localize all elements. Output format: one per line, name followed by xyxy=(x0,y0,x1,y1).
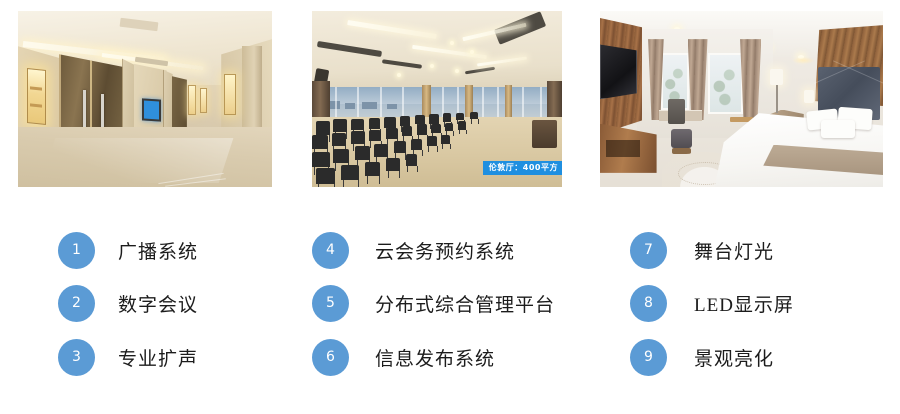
door-handle xyxy=(83,90,86,129)
elevator-lobby-scene xyxy=(18,11,272,187)
feature-number-badge: 6 xyxy=(312,339,349,376)
feature-item-1[interactable]: 1 广播系统 xyxy=(18,231,198,269)
chair xyxy=(406,154,418,166)
lobby-floor xyxy=(18,127,272,187)
chair xyxy=(351,131,365,144)
feature-number-badge: 8 xyxy=(630,285,667,322)
chair xyxy=(333,119,347,132)
chair xyxy=(384,117,396,128)
feature-column-3: 7 舞台灯光 8 LED显示屏 9 景观亮化 xyxy=(600,196,890,414)
chair xyxy=(394,141,406,153)
ottoman-stool xyxy=(671,129,692,148)
feature-item-3[interactable]: 3 专业扩声 xyxy=(18,338,198,376)
guest-room-photo xyxy=(600,11,883,187)
chair-rows xyxy=(312,103,507,187)
chair xyxy=(369,118,381,129)
pillow xyxy=(821,120,855,138)
wall-sconce-light xyxy=(200,88,207,113)
wall-mounted-tv xyxy=(600,44,637,99)
feature-label: 信息发布系统 xyxy=(375,344,495,371)
elevator-lobby-photo xyxy=(18,11,272,187)
chair xyxy=(316,121,330,135)
chair xyxy=(443,113,452,121)
chair xyxy=(312,135,328,149)
chair xyxy=(458,121,466,129)
downlight-icon xyxy=(455,69,459,73)
chair xyxy=(445,123,454,131)
feature-item-8[interactable]: 8 LED显示屏 xyxy=(600,284,794,322)
downlight-icon xyxy=(430,64,434,68)
window-mullion xyxy=(540,87,542,119)
hall-caption-badge: 伦敦厅：400平方 xyxy=(483,161,562,175)
feature-number-badge: 2 xyxy=(58,285,95,322)
feature-list: 1 广播系统 2 数字会议 3 专业扩声 4 云会务预约系统 5 分布式综合管理… xyxy=(0,196,900,414)
chair xyxy=(456,113,464,121)
feature-number-badge: 7 xyxy=(630,232,667,269)
chair xyxy=(429,114,439,123)
side-bench xyxy=(532,120,557,148)
window-mullion xyxy=(522,87,524,119)
chair xyxy=(341,165,359,180)
bedside-wall-lamp xyxy=(804,90,814,102)
floor-lamp xyxy=(770,69,783,85)
feature-number-badge: 4 xyxy=(312,232,349,269)
wall-sconce-light xyxy=(224,74,236,115)
feature-number-badge: 9 xyxy=(630,339,667,376)
chair xyxy=(417,124,427,134)
chair xyxy=(411,139,422,150)
conference-hall-photo: 伦敦厅：400平方 xyxy=(312,11,562,187)
feature-label: 专业扩声 xyxy=(118,344,198,371)
photo-strip: 伦敦厅：400平方 xyxy=(0,0,900,196)
guest-room-scene xyxy=(600,11,883,187)
chair xyxy=(355,146,370,160)
feature-label: 广播系统 xyxy=(118,237,198,264)
feature-item-9[interactable]: 9 景观亮化 xyxy=(600,338,774,376)
downlight-icon xyxy=(397,73,401,77)
wall-sconce-light xyxy=(27,68,46,125)
chair xyxy=(400,116,411,126)
conference-hall-scene: 伦敦厅：400平方 xyxy=(312,11,562,187)
cove-glow xyxy=(792,57,815,64)
chair xyxy=(374,144,388,157)
chair xyxy=(332,133,347,147)
desk-chair xyxy=(668,99,685,124)
chair xyxy=(431,124,441,133)
feature-number-badge: 1 xyxy=(58,232,95,269)
feature-item-2[interactable]: 2 数字会议 xyxy=(18,284,198,322)
feature-number-badge: 3 xyxy=(58,339,95,376)
chair xyxy=(351,119,364,131)
chair xyxy=(369,130,382,142)
downlight-icon xyxy=(470,50,474,54)
feature-item-6[interactable]: 6 信息发布系统 xyxy=(312,338,495,376)
chair xyxy=(365,162,381,176)
feature-column-1: 1 广播系统 2 数字会议 3 专业扩声 xyxy=(18,196,308,414)
feature-item-5[interactable]: 5 分布式综合管理平台 xyxy=(312,284,555,322)
chair xyxy=(427,136,437,146)
feature-label: 舞台灯光 xyxy=(694,237,774,264)
elevator-doors-far xyxy=(172,74,187,134)
chair xyxy=(312,152,330,167)
chair xyxy=(402,126,413,136)
feature-label: 数字会议 xyxy=(118,290,198,317)
chair xyxy=(441,135,451,144)
feature-item-7[interactable]: 7 舞台灯光 xyxy=(600,231,774,269)
chair xyxy=(386,158,400,171)
sky-view xyxy=(312,87,562,104)
feature-label: 分布式综合管理平台 xyxy=(375,290,555,317)
wall-sconce-light xyxy=(188,85,196,115)
chair xyxy=(415,115,425,124)
feature-label: 云会务预约系统 xyxy=(375,237,515,264)
feature-label: LED显示屏 xyxy=(694,290,794,317)
chair xyxy=(386,128,398,139)
feature-column-2: 4 云会务预约系统 5 分布式综合管理平台 6 信息发布系统 xyxy=(312,196,602,414)
downlight-icon xyxy=(450,41,454,45)
room-window xyxy=(708,53,743,113)
chair xyxy=(316,168,336,184)
feature-number-badge: 5 xyxy=(312,285,349,322)
information-display-screen xyxy=(142,98,161,121)
feature-label: 景观亮化 xyxy=(694,344,774,371)
chair xyxy=(333,149,349,163)
chair xyxy=(470,112,478,120)
feature-item-4[interactable]: 4 云会务预约系统 xyxy=(312,231,515,269)
